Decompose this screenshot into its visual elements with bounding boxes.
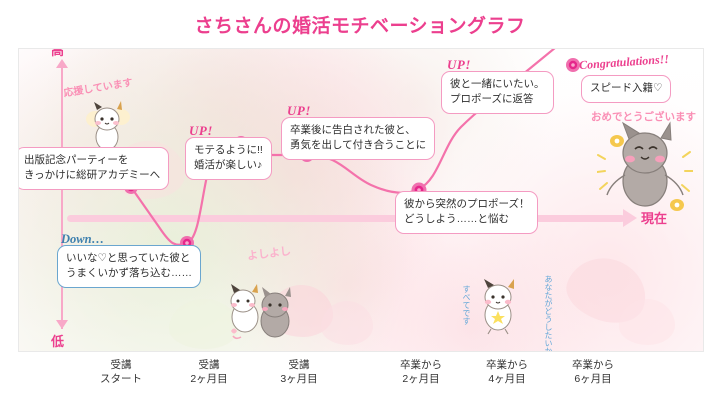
- callout-up-3: 彼と一緒にいたい。 プロポーズに返答: [441, 71, 554, 114]
- callout-worry-line2: どうしよう……と悩む: [404, 212, 529, 227]
- xtick-5-line2: 6ヶ月目: [550, 372, 636, 386]
- motivation-graph-infographic: さちさんの婚活モチベーショングラフ 高 低 現在: [0, 0, 720, 405]
- callout-worry-line1: 彼から突然のプロポーズ！: [404, 197, 529, 212]
- callout-start-line2: きっかけに総研アカデミーへ: [24, 168, 160, 183]
- callout-up-2-line1: 卒業後に告白された彼と、: [290, 123, 426, 138]
- xtick-4-line2: 4ヶ月目: [464, 372, 550, 386]
- callout-down: いいな♡と思っていた彼と うまくいかず落ち込む……: [57, 245, 201, 288]
- callout-congrats-line1: スピード入籍♡: [590, 81, 662, 96]
- callout-up-2: 卒業後に告白された彼と、 勇気を出して付き合うことに: [281, 117, 435, 160]
- callout-up-2-line2: 勇気を出して付き合うことに: [290, 138, 426, 153]
- xtick-2-line1: 受講: [289, 359, 310, 371]
- callout-up-1-line2: 婚活が楽しい♪: [194, 158, 263, 173]
- callout-worry: 彼から突然のプロポーズ！ どうしよう……と悩む: [395, 191, 538, 234]
- star-cat-character-illustration: [471, 277, 525, 335]
- callout-down-line2: うまくいかず落ち込む……: [66, 266, 192, 281]
- xtick-2-line2: 3ヶ月目: [256, 372, 342, 386]
- xtick-3: 卒業から 2ヶ月目: [378, 358, 464, 386]
- page-title: さちさんの婚活モチベーショングラフ: [0, 11, 720, 38]
- xtick-1: 受講 2ヶ月目: [166, 358, 252, 386]
- vertical-note-subete: すべてです: [461, 285, 472, 325]
- xtick-5-line1: 卒業から: [572, 359, 614, 371]
- xtick-4: 卒業から 4ヶ月目: [464, 358, 550, 386]
- xtick-1-line1: 受講: [199, 359, 220, 371]
- callout-up-3-line2: プロポーズに返答: [450, 92, 545, 107]
- callout-up-3-line1: 彼と一緒にいたい。: [450, 77, 545, 92]
- callout-start: 出版記念パーティーを きっかけに総研アカデミーへ: [18, 147, 169, 190]
- xtick-3-line2: 2ヶ月目: [378, 372, 464, 386]
- xtick-0: 受講 スタート: [78, 358, 164, 386]
- handwritten-note-congrats: おめでとうございます: [591, 109, 696, 124]
- xtick-5: 卒業から 6ヶ月目: [550, 358, 636, 386]
- two-cats-character-illustration: [219, 281, 301, 345]
- callout-up-1-line1: モテるように!!: [194, 143, 263, 158]
- callout-down-line1: いいな♡と思っていた彼と: [66, 251, 192, 266]
- callout-up-1: モテるように!! 婚活が楽しい♪: [185, 137, 272, 180]
- xtick-0-line1: 受講: [111, 359, 132, 371]
- celebrating-cat-character-illustration: [597, 119, 693, 221]
- callout-start-line1: 出版記念パーティーを: [24, 153, 160, 168]
- xtick-2: 受講 3ヶ月目: [256, 358, 342, 386]
- xtick-0-line2: スタート: [78, 372, 164, 386]
- callout-congrats: スピード入籍♡: [581, 75, 671, 103]
- vertical-note-anata: あなたがどうしたいかが: [543, 275, 554, 352]
- xtick-4-line1: 卒業から: [486, 359, 528, 371]
- xtick-3-line1: 卒業から: [400, 359, 442, 371]
- plot-area: 高 低 現在: [18, 48, 704, 352]
- xtick-1-line2: 2ヶ月目: [166, 372, 252, 386]
